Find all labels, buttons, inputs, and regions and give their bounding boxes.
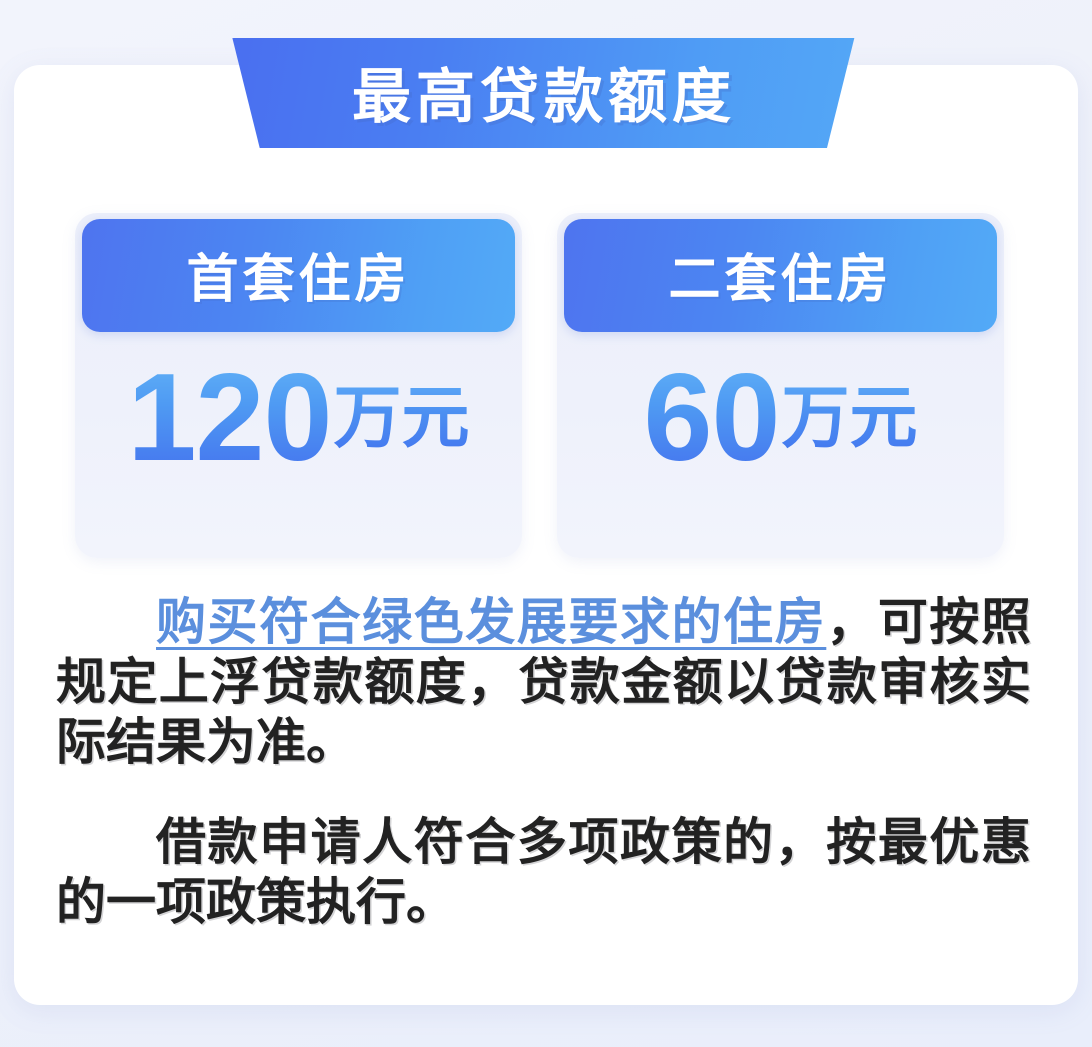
page-title: 最高贷款额度 <box>218 38 870 148</box>
amount-unit: 万元 <box>781 384 917 452</box>
amount-value-first-home: 120 万元 <box>75 353 522 483</box>
amount-card-first-home: 首套住房 120 万元 <box>75 213 522 558</box>
amount-number: 60 <box>644 356 780 480</box>
page-title-banner: 最高贷款额度 <box>218 38 870 148</box>
amount-value-second-home: 60 万元 <box>557 353 1004 483</box>
amount-cards-row: 首套住房 120 万元 二套住房 60 万元 <box>75 213 1015 558</box>
amount-card-header-first-home: 首套住房 <box>82 219 515 332</box>
amount-card-header-second-home: 二套住房 <box>564 219 997 332</box>
amount-card-header-label: 首套住房 <box>186 237 410 314</box>
amount-card-second-home: 二套住房 60 万元 <box>557 213 1004 558</box>
amount-card-header-label: 二套住房 <box>668 237 892 314</box>
green-housing-link[interactable]: 购买符合绿色发展要求的住房 <box>156 594 826 650</box>
amount-unit: 万元 <box>333 384 469 452</box>
paragraph-best-policy: 借款申请人符合多项政策的，按最优惠的一项政策执行。 <box>56 812 1031 932</box>
paragraph-green-housing: 购买符合绿色发展要求的住房，可按照规定上浮贷款额度，贷款金额以贷款审核实际结果为… <box>56 592 1031 772</box>
amount-number: 120 <box>128 356 332 480</box>
policy-description: 购买符合绿色发展要求的住房，可按照规定上浮贷款额度，贷款金额以贷款审核实际结果为… <box>56 592 1031 932</box>
